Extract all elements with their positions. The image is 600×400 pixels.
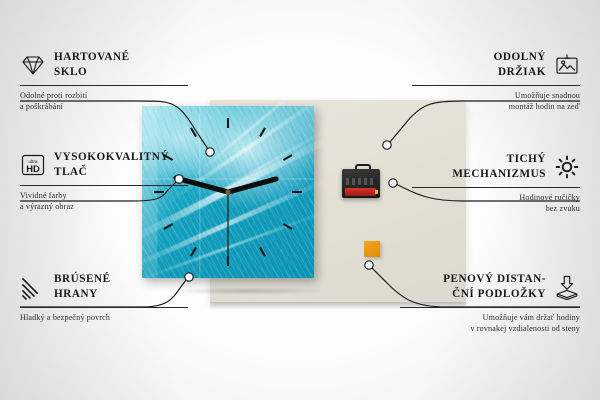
feature-title: PENOVÝ DISTAN- ČNÍ PODLOŽKY [443, 272, 546, 303]
feature-subtitle: Hladký a bezpečný povrch [20, 312, 188, 323]
clock-tick [283, 224, 292, 229]
feature-title: HARTOVANÉ SKLO [54, 50, 130, 81]
clock-tick [191, 247, 196, 256]
product-infographic: HARTOVANÉ SKLO Odolné proti rozbití a po… [0, 0, 600, 400]
feature-silent-mechanism: TICHÝ MECHANIZMUS Hodinové ručičky bez z… [412, 152, 580, 215]
mechanism-battery [345, 188, 376, 196]
hour-hand [228, 179, 276, 192]
feature-high-quality-print: ultra HD VYSOKOKVALITNÝ TLAČ Vividné far… [20, 150, 188, 213]
mechanism-body [342, 169, 380, 198]
svg-text:HD: HD [26, 163, 40, 174]
feature-title: VYSOKOKVALITNÝ TLAČ [54, 150, 169, 181]
diamond-icon [20, 52, 46, 78]
feature-foam-spacers: PENOVÝ DISTAN- ČNÍ PODLOŽKY Umožňuje vám… [400, 272, 580, 335]
feature-hardened-glass: HARTOVANÉ SKLO Odolné proti rozbití a po… [20, 50, 188, 113]
clock-tick [260, 247, 265, 256]
mechanism-label [346, 178, 374, 185]
clock-tick [164, 224, 173, 229]
feature-title: ODOLNÝ DRŽIAK [494, 50, 546, 81]
feature-subtitle: Odolné proti rozbití a poškrábání [20, 90, 188, 113]
clock-tick [260, 128, 265, 137]
feature-subtitle: Vividné farby a výrazný obraz [20, 190, 188, 213]
feature-header: TICHÝ MECHANIZMUS [412, 152, 580, 183]
clock-tick [191, 128, 196, 137]
feature-header: ODOLNÝ DRŽIAK [412, 50, 580, 81]
clock-mechanism [342, 164, 380, 198]
feature-header: ultra HD VYSOKOKVALITNÝ TLAČ [20, 150, 188, 181]
feature-divider [20, 185, 188, 186]
feature-durable-hanger: ODOLNÝ DRŽIAK Umožňuje snadnou montáž ho… [412, 50, 580, 113]
feature-title: BRÚSENÉ HRANY [54, 272, 111, 303]
feature-subtitle: Umožňuje vám držať hodiny v rovnakej vzd… [400, 312, 580, 335]
feature-title: TICHÝ MECHANIZMUS [452, 152, 546, 183]
clock-tick [283, 155, 292, 160]
feature-divider [20, 85, 188, 86]
feature-divider [412, 187, 580, 188]
ultra-hd-icon: ultra HD [20, 152, 46, 178]
feature-divider [20, 307, 188, 308]
feature-subtitle: Hodinové ručičky bez zvuku [412, 192, 580, 215]
gear-icon [554, 154, 580, 180]
feature-subtitle: Umožňuje snadnou montáž hodin na zeď [412, 90, 580, 113]
feature-header: HARTOVANÉ SKLO [20, 50, 188, 81]
feature-header: BRÚSENÉ HRANY [20, 272, 188, 303]
feature-divider [412, 85, 580, 86]
foam-spacer-pad [364, 241, 380, 257]
clock-center-cap [225, 189, 230, 194]
foam-spacer-icon [554, 274, 580, 300]
feature-header: PENOVÝ DISTAN- ČNÍ PODLOŽKY [400, 272, 580, 303]
wall-hanger-icon [554, 52, 580, 78]
feature-divider [400, 307, 580, 308]
feature-beveled-edges: BRÚSENÉ HRANY Hladký a bezpečný povrch [20, 272, 188, 323]
beveled-edges-icon [20, 274, 46, 300]
